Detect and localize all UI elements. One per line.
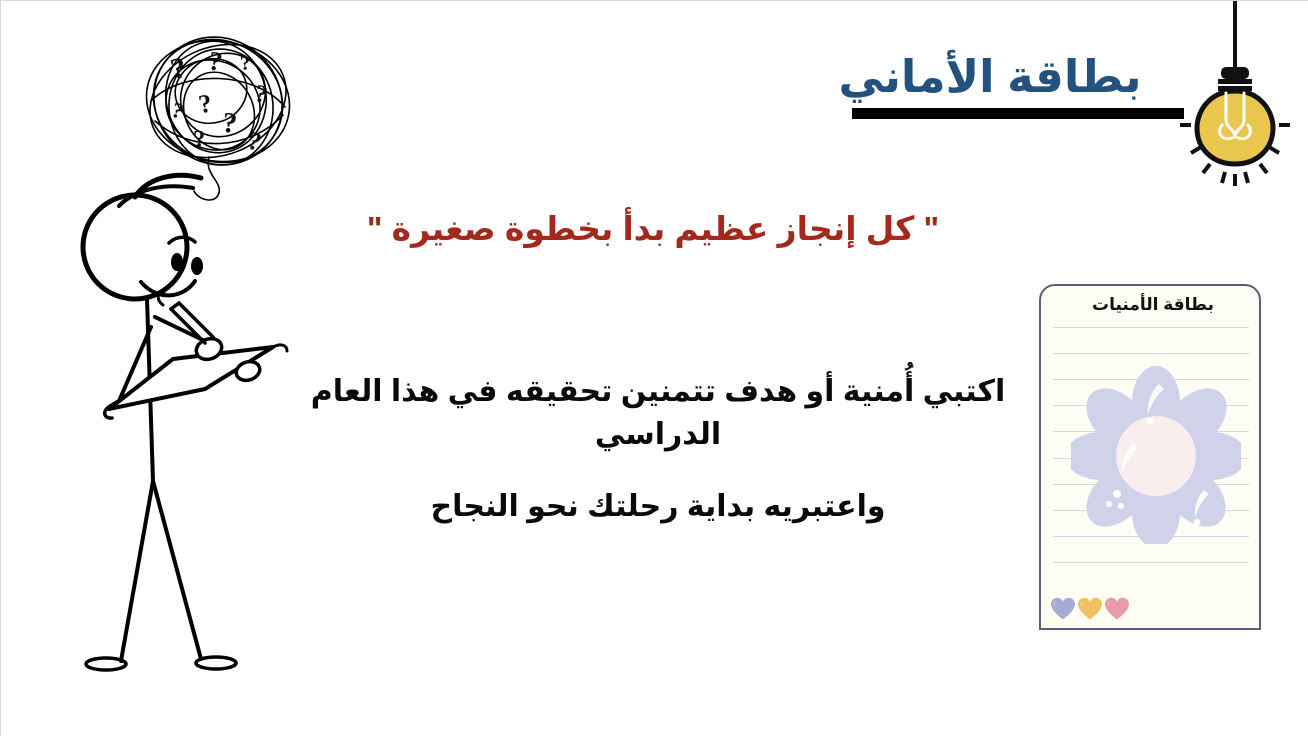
wish-card[interactable]: بطاقة الأمنيات (1039, 284, 1261, 630)
figure-eye-right (191, 257, 203, 275)
bulb-socket (1221, 67, 1249, 79)
figure-leg-left (121, 481, 153, 661)
svg-text:?: ? (193, 126, 207, 153)
svg-text:?: ? (207, 45, 225, 77)
svg-text:?: ? (239, 52, 251, 75)
figure-eyebrow (169, 237, 195, 243)
heart-pink-icon (1104, 597, 1130, 621)
page-title: بطاقة الأماني (780, 53, 1200, 100)
flower-watermark-icon (1071, 364, 1241, 544)
wish-card-hearts (1050, 597, 1130, 621)
hanging-light-bulb-icon (1180, 1, 1290, 186)
pen-icon (171, 303, 213, 343)
body-text-block: اكتبي أُمنية أو هدف تتمنين تحقيقه في هذا… (288, 371, 1028, 529)
heart-lavender-icon (1050, 597, 1076, 621)
wish-card-rule (1053, 327, 1249, 328)
svg-text:?: ? (221, 107, 239, 140)
figure-foot-left (86, 658, 126, 670)
wish-card-rule (1053, 353, 1249, 354)
figure-head (83, 195, 187, 299)
svg-text:?: ? (253, 80, 270, 109)
bulb-glass (1197, 91, 1273, 164)
body-paragraph-1: اكتبي أُمنية أو هدف تتمنين تحقيقه في هذا… (288, 371, 1028, 456)
body-paragraph-2: واعتبريه بداية رحلتك نحو النجاح (288, 486, 1028, 529)
heart-yellow-icon (1077, 597, 1103, 621)
figure-eye-left (171, 253, 183, 271)
thought-tangle-icon (127, 11, 308, 191)
wish-card-rule (1053, 562, 1249, 563)
title-block: بطاقة الأماني (780, 53, 1200, 119)
slide-canvas: ? ? ? ? ? ? ? ? ? (0, 0, 1308, 736)
title-underline-bar (852, 108, 1184, 119)
wish-card-title: بطاقة الأمنيات (1041, 286, 1259, 315)
svg-text:?: ? (196, 88, 214, 119)
figure-foot-right (196, 657, 236, 669)
motivational-quote: " كل إنجاز عظيم بدأ بخطوة صغيرة " (288, 209, 1018, 248)
figure-leg-right (153, 481, 201, 659)
stick-figure-illustration: ? ? ? ? ? ? ? ? ? (23, 11, 373, 701)
